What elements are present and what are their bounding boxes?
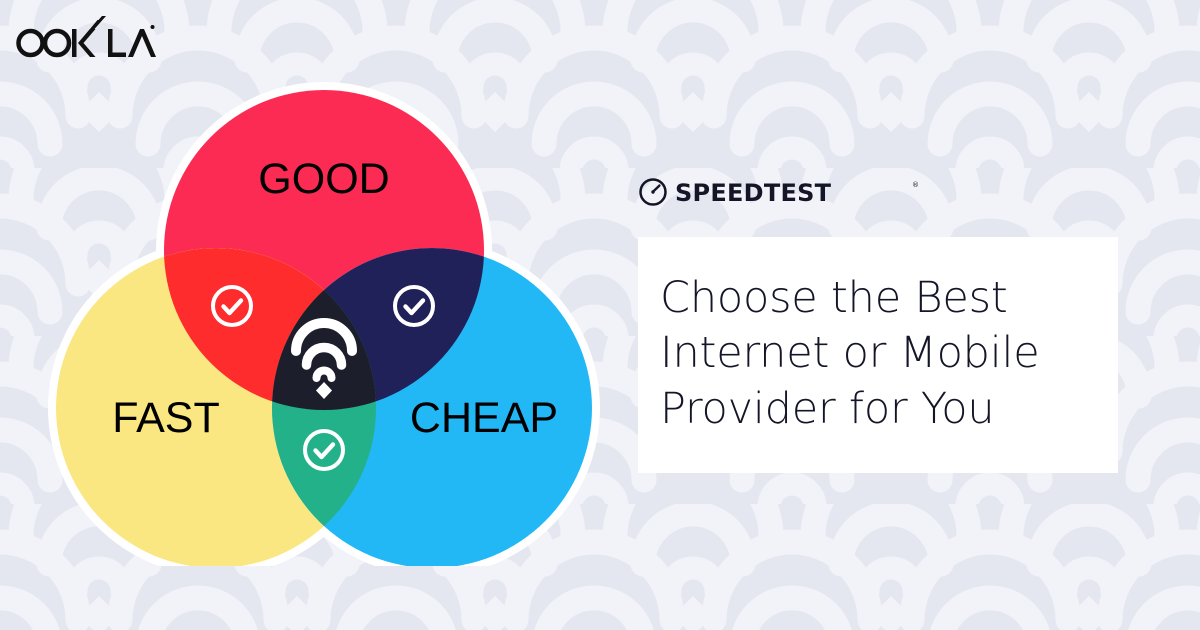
speedtest-wordmark-text: SPEEDTEST: [675, 179, 832, 207]
venn-label-fast: FAST: [112, 394, 220, 442]
speedtest-wordmark-logo[interactable]: SPEEDTEST ®: [638, 176, 928, 208]
page-title: Choose the Best Internet or Mobile Provi…: [660, 271, 1118, 437]
content-panel: SPEEDTEST ® Choose the Best Internet or …: [638, 176, 1120, 473]
venn-label-good: GOOD: [258, 155, 389, 203]
speedtest-trademark: ®: [912, 181, 919, 189]
social-share-card: GOOD FAST CHEAP: [0, 0, 1200, 630]
ookla-wordmark-logo[interactable]: [14, 16, 156, 60]
venn-diagram: GOOD FAST CHEAP: [46, 60, 602, 566]
headline-card: Choose the Best Internet or Mobile Provi…: [638, 237, 1118, 473]
speedometer-gauge-icon: [641, 180, 666, 205]
venn-label-cheap: CHEAP: [410, 394, 558, 442]
